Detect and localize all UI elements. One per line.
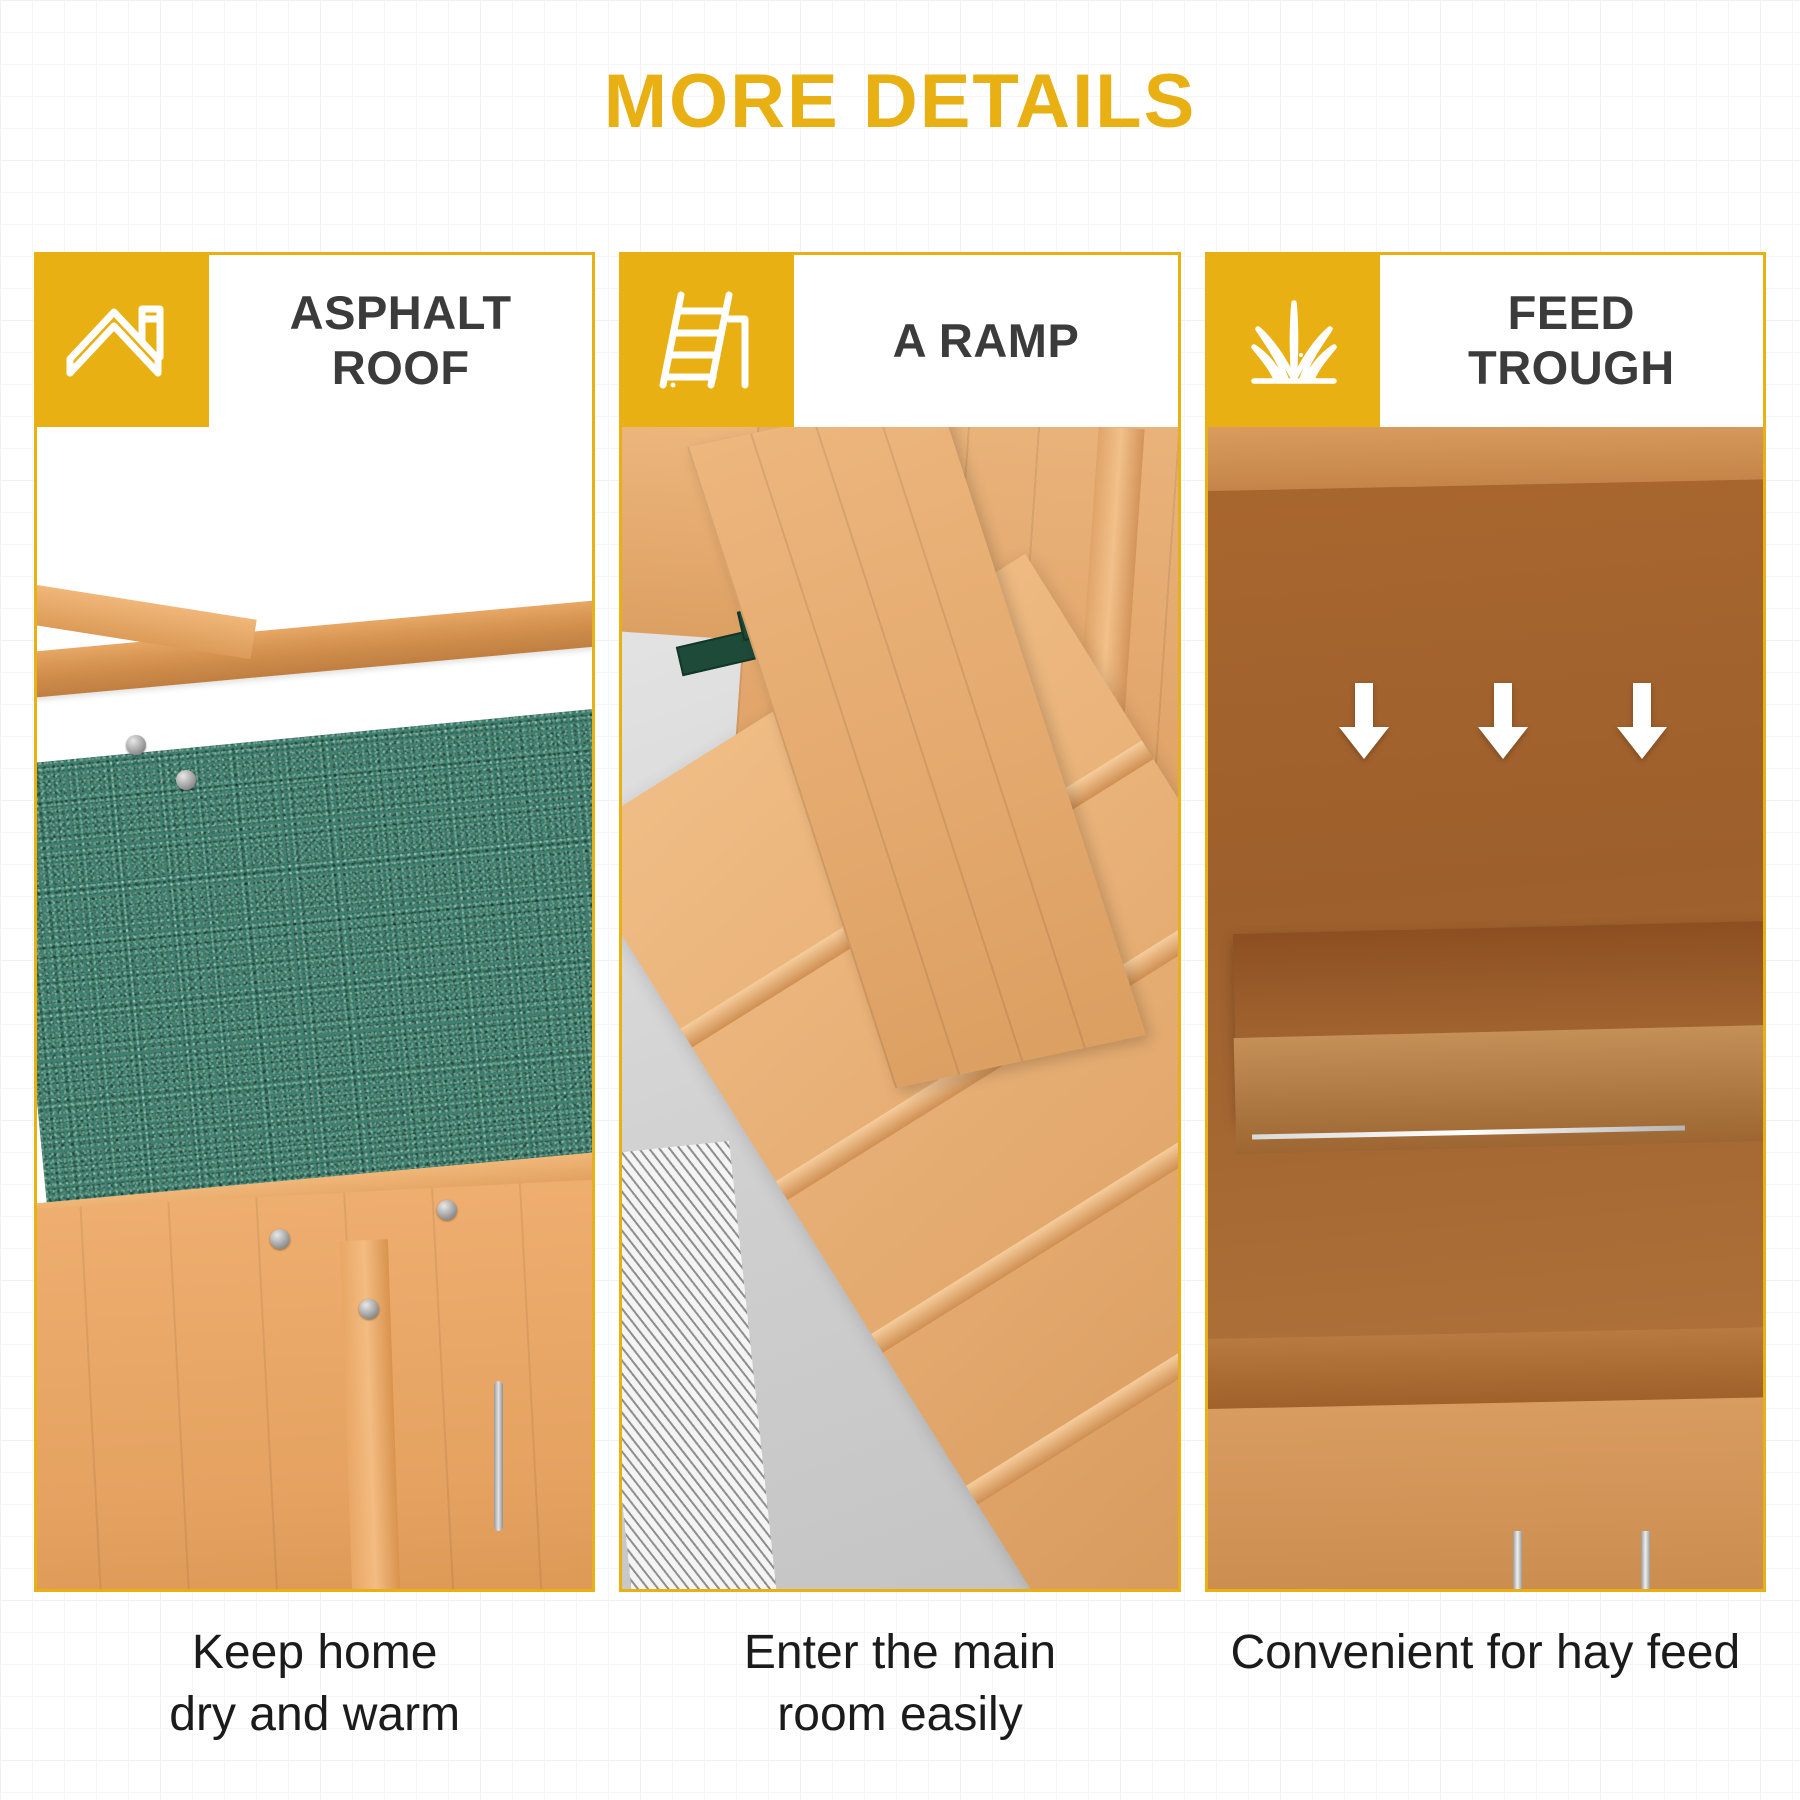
card-title: FEED TROUGH [1380, 255, 1763, 427]
feature-card-ramp: A RAMP [619, 252, 1180, 1592]
door-handle [494, 1381, 503, 1531]
card-header: ASPHALT ROOF [37, 255, 592, 427]
caption-feed-trough: Convenient for hay feed [1205, 1622, 1766, 1747]
wood-wall-panel [37, 1177, 592, 1589]
product-photo-ramp [622, 427, 1177, 1589]
page-title: MORE DETAILS [0, 58, 1800, 145]
screw-head [176, 770, 196, 790]
down-arrow-icon [1474, 683, 1532, 761]
roof-chimney-icon [37, 255, 209, 427]
down-arrow-icon [1613, 683, 1671, 761]
screw-head [126, 735, 146, 755]
card-title-line1: A RAMP [893, 314, 1080, 367]
down-arrow-icon [1335, 683, 1393, 761]
card-title-line2: ROOF [332, 341, 470, 394]
card-title-line2: TROUGH [1468, 341, 1675, 394]
screw-head [359, 1299, 379, 1319]
feature-card-feed-trough: FEED TROUGH [1205, 252, 1766, 1592]
caption-ramp: Enter the main room easily [619, 1622, 1180, 1747]
card-title-line1: ASPHALT [290, 286, 512, 339]
ladder-icon [622, 255, 794, 427]
ramp-rung [966, 1198, 1177, 1505]
captions-row: Keep home dry and warm Enter the main ro… [34, 1622, 1766, 1747]
card-header: FEED TROUGH [1208, 255, 1763, 427]
card-header: A RAMP [622, 255, 1177, 427]
grass-hay-icon [1208, 255, 1380, 427]
metal-leg [1641, 1531, 1650, 1589]
screw-head [437, 1200, 457, 1220]
screw-head [270, 1229, 290, 1249]
feature-cards-row: ASPHALT ROOF [34, 252, 1766, 1592]
card-title: ASPHALT ROOF [209, 255, 592, 427]
caption-asphalt-roof: Keep home dry and warm [34, 1622, 595, 1747]
feature-card-asphalt-roof: ASPHALT ROOF [34, 252, 595, 1592]
product-photo-feed-trough [1208, 427, 1763, 1589]
metal-leg [1513, 1531, 1522, 1589]
wood-lower-panel [1208, 1397, 1763, 1589]
card-title-line1: FEED [1508, 286, 1635, 339]
product-photo-asphalt-roof [37, 427, 592, 1589]
card-title: A RAMP [794, 255, 1177, 427]
